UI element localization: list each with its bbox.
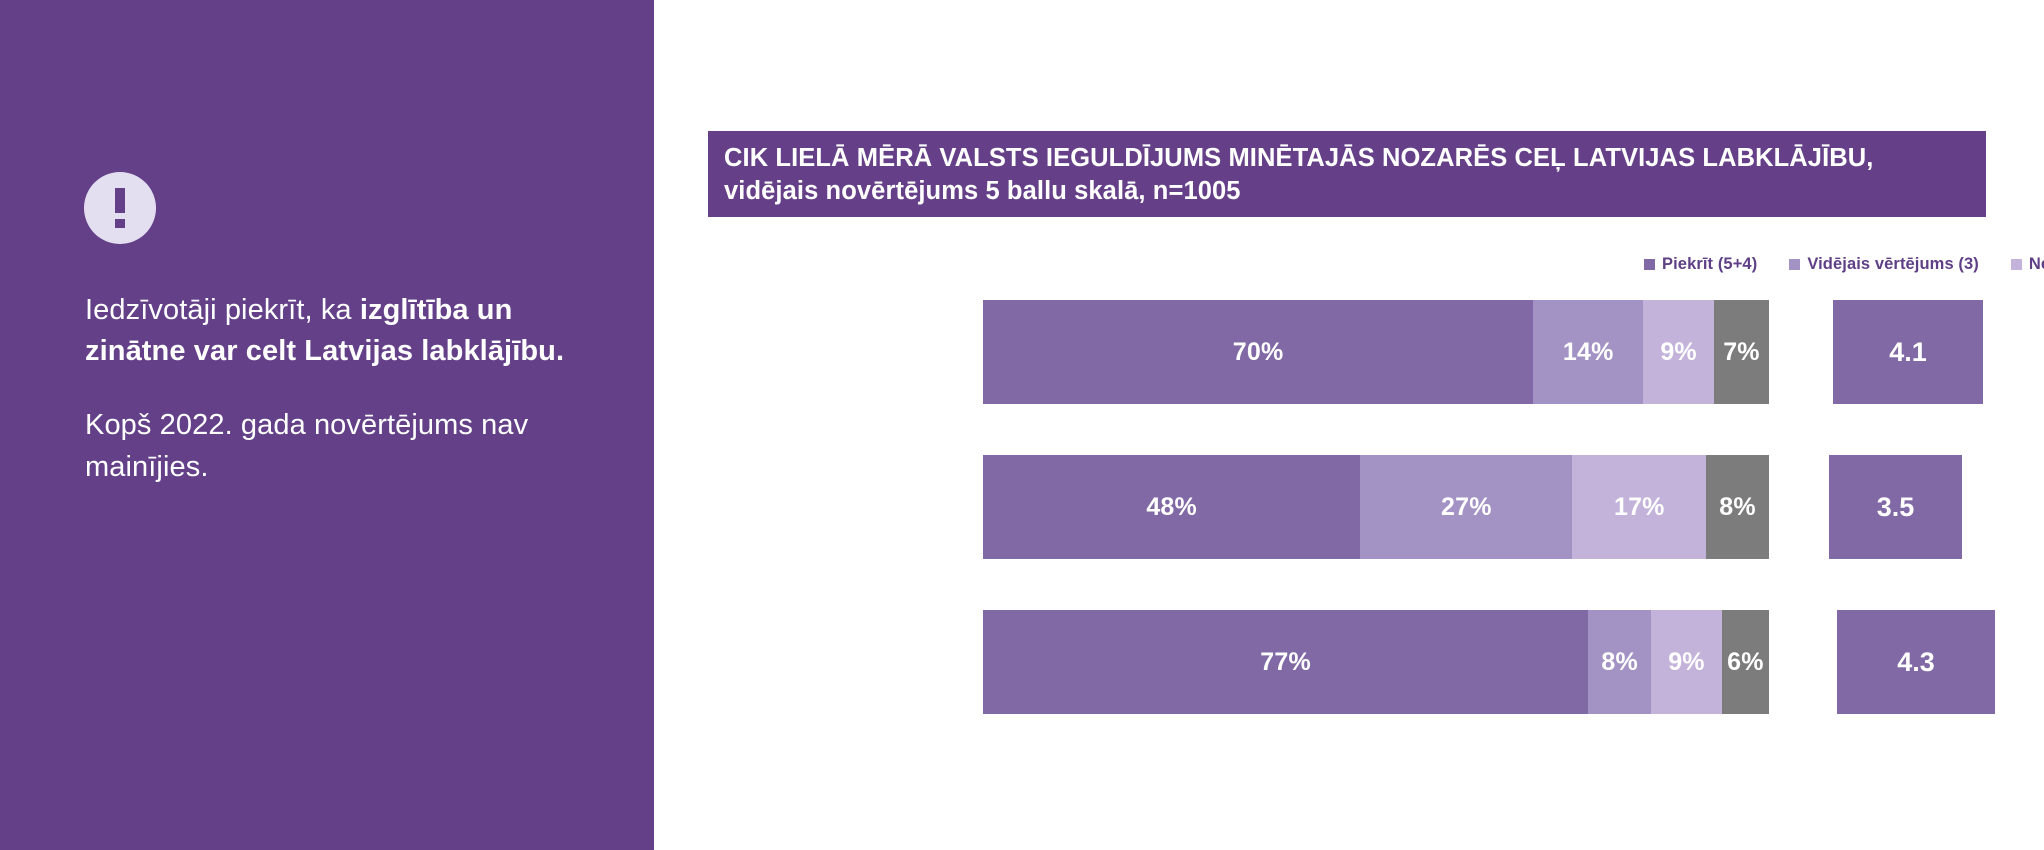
stacked-bar: 70%14%9%7%	[983, 300, 1769, 404]
bar-segment[interactable]: 9%	[1643, 300, 1714, 404]
bar-segment[interactable]: 8%	[1706, 455, 1769, 559]
average-value-box[interactable]: 4.3	[1837, 610, 1995, 714]
average-value: 3.5	[1877, 492, 1915, 523]
bar-segment-label: 9%	[1668, 648, 1705, 677]
bar-segment-label: 70%	[1233, 338, 1284, 367]
bar-segment-label: 27%	[1441, 493, 1492, 522]
bar-segment[interactable]: 27%	[1360, 455, 1572, 559]
bar-segment[interactable]: 6%	[1722, 610, 1769, 714]
bar-segment[interactable]: 14%	[1533, 300, 1643, 404]
bar-segment-label: 8%	[1601, 648, 1638, 677]
stacked-bar: 48%27%17%8%	[983, 455, 1769, 559]
slide-root: Iedzīvotāji piekrīt, ka izglītība un zin…	[0, 0, 2044, 850]
bar-segment-label: 77%	[1260, 648, 1311, 677]
bar-segment-label: 9%	[1660, 338, 1697, 367]
bar-segment-label: 14%	[1563, 338, 1614, 367]
bar-segment-label: 48%	[1146, 493, 1197, 522]
bar-segment-label: 17%	[1614, 493, 1665, 522]
bar-segment-label: 8%	[1719, 493, 1756, 522]
average-value-box[interactable]: 4.1	[1833, 300, 1983, 404]
bar-segment-label: 6%	[1727, 648, 1764, 677]
chart-rows: Zinātne70%14%9%7%4.1Kultūra un māksla48%…	[0, 0, 2044, 850]
bar-segment[interactable]: 7%	[1714, 300, 1769, 404]
bar-segment[interactable]: 77%	[983, 610, 1588, 714]
bar-segment[interactable]: 8%	[1588, 610, 1651, 714]
stacked-bar: 77%8%9%6%	[983, 610, 1769, 714]
bar-segment[interactable]: 48%	[983, 455, 1360, 559]
average-value-box[interactable]: 3.5	[1829, 455, 1962, 559]
bar-segment[interactable]: 70%	[983, 300, 1533, 404]
bar-segment-label: 7%	[1723, 338, 1760, 367]
bar-segment[interactable]: 9%	[1651, 610, 1722, 714]
average-value: 4.1	[1889, 337, 1927, 368]
bar-segment[interactable]: 17%	[1572, 455, 1706, 559]
average-value: 4.3	[1897, 647, 1935, 678]
